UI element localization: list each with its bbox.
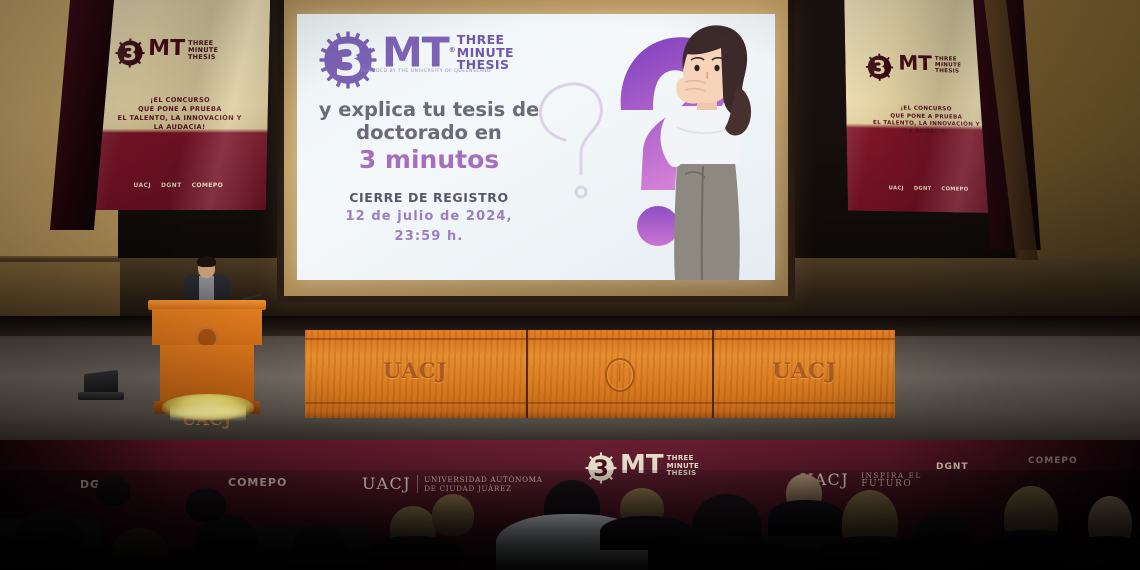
stage-block-right: UACJ (714, 330, 895, 418)
comepo-logo-text: COMEPO (1028, 456, 1078, 466)
speaker-hair (197, 256, 216, 267)
registered-trademark-icon: ® (449, 46, 455, 54)
slide-headline-highlight: 3 minutos (311, 145, 547, 174)
slide-deadline-time: 23:59 h. (311, 228, 547, 245)
speaker-shirt (199, 276, 214, 302)
speaker-podium: UACJ (148, 300, 266, 418)
uacj-crest-seal-icon (605, 358, 635, 392)
three-minute-thesis-mark-icon: 3 (319, 31, 377, 89)
slide-logo-words: THREE MINUTE THESIS (457, 34, 514, 72)
slide-3mt-logo: 3 MT® THREE MINUTE THESIS (319, 31, 514, 89)
block-bottom-groove (714, 402, 895, 404)
slide-illustration (525, 14, 775, 280)
block-top-groove (528, 338, 713, 340)
stage-block-center (528, 330, 715, 418)
slide-headline: y explica tu tesis de doctorado en 3 min… (311, 98, 547, 174)
block-top-groove (714, 338, 895, 340)
block-bottom-groove (528, 402, 713, 404)
slide-registration-deadline: CIERRE DE REGISTRO 12 de julio de 2024, … (311, 190, 547, 245)
speaker-person (180, 258, 234, 306)
podium-flower-arrangement (162, 394, 254, 420)
banner-left: 3 MT THREE MINUTE THESIS ¡EL CONCURSO QU… (90, 0, 270, 210)
projection-screen: 3 MT® THREE MINUTE THESIS FOUNDED BY THE… (297, 14, 775, 280)
slide-deadline-label: CIERRE DE REGISTRO (311, 190, 547, 205)
block-bottom-groove (305, 402, 526, 404)
block-uacj-wordmark: UACJ (714, 358, 895, 383)
back-wall-band-left (0, 262, 120, 318)
slide-logo-founded-note: FOUNDED BY THE UNIVERSITY OF QUEENSLAND (361, 69, 491, 74)
slide-deadline-date: 12 de julio de 2024, (311, 208, 547, 225)
block-uacj-wordmark: UACJ (305, 358, 526, 383)
slide-headline-line-2: doctorado en (311, 121, 547, 144)
banner-left-fabric-sheen (90, 0, 270, 210)
front-banner-comepo-right: COMEPO (1028, 456, 1078, 466)
stage-wooden-blocks: UACJ UACJ (305, 330, 895, 418)
slide-headline-line-1: y explica tu tesis de (311, 98, 547, 121)
svg-text:3: 3 (334, 37, 364, 86)
stage-block-left: UACJ (305, 330, 528, 418)
block-top-groove (305, 338, 526, 340)
auditorium-scene: 3 MT THREE MINUTE THESIS ¡EL CONCURSO QU… (0, 0, 1140, 570)
stage-floor-monitor-base (78, 392, 124, 400)
audience-area (0, 470, 1140, 570)
audience-vignette (0, 470, 1140, 570)
slide-logo-mt-text: MT® (382, 31, 455, 72)
podium-upper-panel (152, 309, 262, 345)
